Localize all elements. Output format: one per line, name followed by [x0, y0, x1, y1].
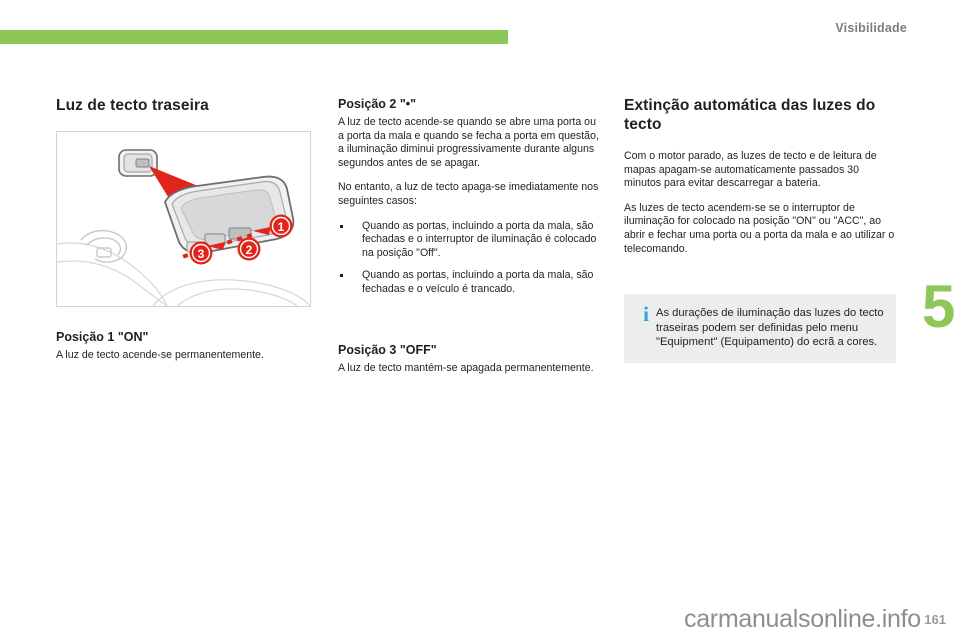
info-note-text: As durações de iluminação das luzes do t… — [656, 306, 884, 350]
svg-text:1: 1 — [278, 220, 285, 234]
position-3-heading: Posição 3 "OFF" — [338, 342, 600, 358]
auto-extinction-paragraph-2: As luzes de tecto acendem-se se o interr… — [624, 202, 896, 256]
page-number: 161 — [924, 612, 946, 627]
right-column: Extinção automática das luzes do tecto C… — [624, 96, 896, 256]
callout-2: 2 — [238, 238, 261, 261]
auto-extinction-paragraph-1: Com o motor parado, as luzes de tecto e … — [624, 150, 896, 191]
svg-text:3: 3 — [198, 247, 205, 261]
callout-3: 3 — [190, 242, 213, 265]
position-1-text: A luz de tecto acende-se permanentemente… — [56, 349, 311, 363]
auto-extinction-title: Extinção automática das luzes do tecto — [624, 96, 896, 134]
position-3-text: A luz de tecto mantém-se apagada permane… — [338, 362, 600, 376]
chapter-tab: 5 — [918, 270, 960, 348]
chapter-tab-number: 5 — [922, 270, 955, 344]
header-chapter-label: Visibilidade — [835, 21, 907, 35]
position-1-heading: Posição 1 "ON" — [56, 329, 311, 345]
site-watermark: carmanualsonline.info — [684, 604, 921, 634]
middle-column: Posição 2 "•" A luz de tecto acende-se q… — [338, 96, 600, 375]
position-2-heading: Posição 2 "•" — [338, 96, 600, 112]
list-item: Quando as portas, incluindo a porta da m… — [338, 220, 600, 261]
svg-text:2: 2 — [246, 243, 253, 257]
page-title: Luz de tecto traseira — [56, 96, 311, 115]
column-spacer — [338, 306, 600, 342]
position-2-paragraph-2: No entanto, a luz de tecto apaga-se imed… — [338, 181, 600, 208]
callout-1: 1 — [270, 215, 293, 238]
position-2-bullet-list: Quando as portas, incluindo a porta da m… — [338, 220, 600, 297]
position-2-paragraph-1: A luz de tecto acende-se quando se abre … — [338, 116, 600, 170]
info-icon: i — [636, 306, 656, 350]
left-column: Luz de tecto traseira — [56, 96, 311, 363]
rear-ceiling-light-illustration: 1 2 3 — [56, 131, 311, 307]
info-note-box: i As durações de iluminação das luzes do… — [624, 294, 896, 363]
list-item: Quando as portas, incluindo a porta da m… — [338, 269, 600, 296]
header-accent-bar — [0, 30, 508, 44]
